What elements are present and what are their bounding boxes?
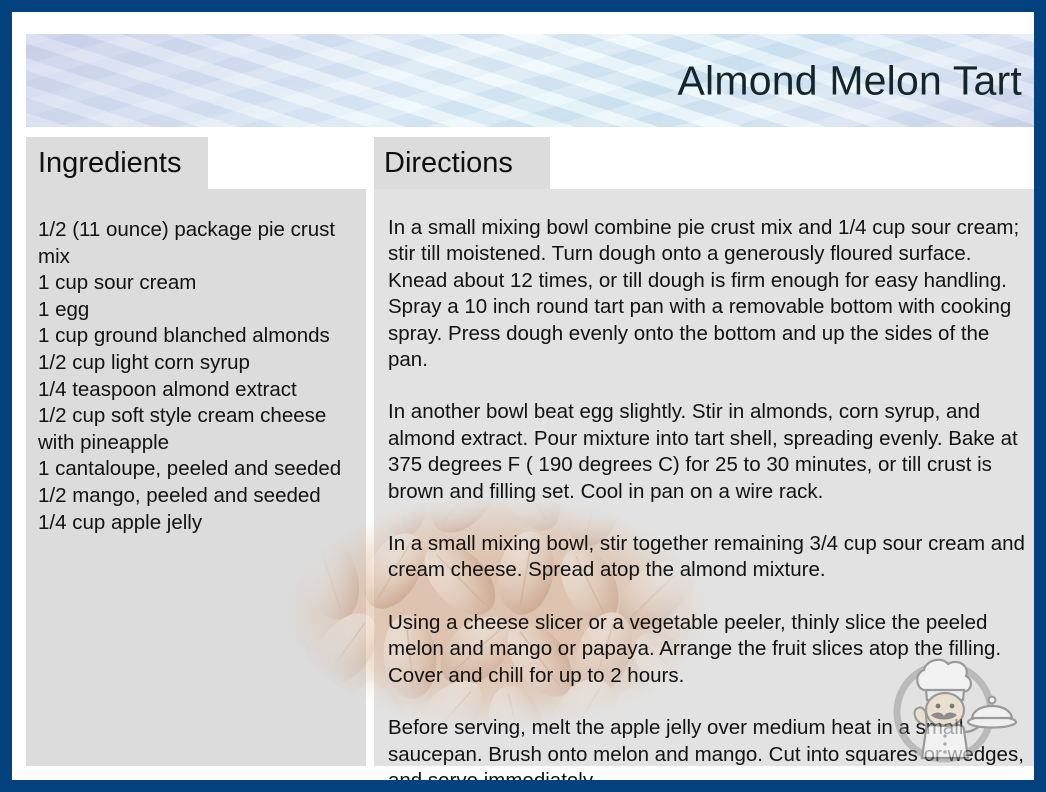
ingredients-heading: Ingredients (38, 149, 182, 178)
list-item: 1/4 cup apple jelly (38, 510, 354, 537)
list-item: 1 cup sour cream (38, 270, 354, 297)
list-item: 1 cantaloupe, peeled and seeded (38, 456, 354, 483)
list-item: 1/2 (11 ounce) package pie crust mix (38, 217, 354, 270)
list-item: 1 egg (38, 297, 354, 324)
ingredients-panel: 1/2 (11 ounce) package pie crust mix 1 c… (26, 189, 366, 766)
directions-column: Directions In a small mixing bowl combin… (374, 137, 1044, 766)
direction-paragraph: Using a cheese slicer or a vegetable pee… (388, 610, 1028, 689)
list-item: 1/4 teaspoon almond extract (38, 377, 354, 404)
page-title: Almond Melon Tart (678, 57, 1022, 104)
list-item: 1/2 cup soft style cream cheese with pin… (38, 403, 354, 456)
ingredients-list: 1/2 (11 ounce) package pie crust mix 1 c… (38, 217, 354, 536)
header-banner: Almond Melon Tart (26, 34, 1044, 127)
card-inner-matte: Almond Melon Tart Ingredients 1/2 (11 ou… (24, 24, 1022, 768)
direction-paragraph: Before serving, melt the apple jelly ove… (388, 715, 1028, 792)
ingredients-column: Ingredients 1/2 (11 ounce) package pie c… (26, 137, 366, 766)
direction-paragraph: In a small mixing bowl, stir together re… (388, 531, 1028, 584)
list-item: 1/2 cup light corn syrup (38, 350, 354, 377)
list-item: 1/2 mango, peeled and seeded (38, 483, 354, 510)
recipe-card: Almond Melon Tart Ingredients 1/2 (11 ou… (0, 0, 1046, 792)
directions-heading-tab: Directions (374, 137, 550, 189)
ingredients-heading-tab: Ingredients (26, 137, 208, 189)
direction-paragraph: In a small mixing bowl combine pie crust… (388, 215, 1028, 373)
content-columns: Ingredients 1/2 (11 ounce) package pie c… (26, 137, 1044, 766)
directions-panel: In a small mixing bowl combine pie crust… (374, 189, 1044, 766)
directions-heading: Directions (384, 149, 513, 178)
list-item: 1 cup ground blanched almonds (38, 323, 354, 350)
direction-paragraph: In another bowl beat egg slightly. Stir … (388, 399, 1028, 505)
